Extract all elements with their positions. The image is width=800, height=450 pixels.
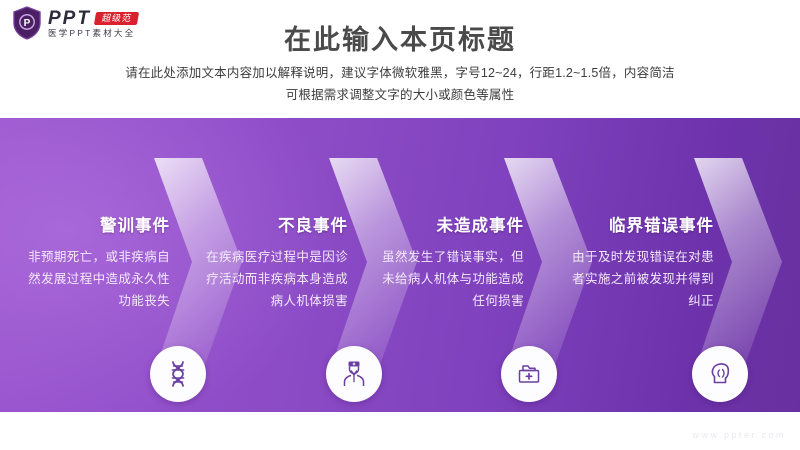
medical-folder-icon xyxy=(501,346,557,402)
event-card-2-title: 不良事件 xyxy=(196,212,348,236)
event-card-3-body: 虽然发生了错误事实，但未给病人机体与功能造成任何损害 xyxy=(372,246,524,312)
subtitle-line-1: 请在此处添加文本内容加以解释说明，建议字体微软雅黑，字号12~24，行距1.2~… xyxy=(0,62,800,84)
head-profile-icon xyxy=(692,346,748,402)
watermark: www.ppter.com xyxy=(692,430,786,440)
content-band: 警训事件 非预期死亡，或非疾病自然发展过程中造成永久性功能丧失 不良事件 在疾病… xyxy=(0,118,800,412)
event-card-1-title: 警训事件 xyxy=(18,212,170,236)
event-card-1-body: 非预期死亡，或非疾病自然发展过程中造成永久性功能丧失 xyxy=(18,246,170,312)
event-card-2-body: 在疾病医疗过程中是因诊疗活动而非疾病本身造成病人机体损害 xyxy=(196,246,348,312)
event-card-4-title: 临界错误事件 xyxy=(562,212,714,236)
event-card-4-body: 由于及时发现错误在对患者实施之前被发现并得到纠正 xyxy=(562,246,714,312)
event-card-3-title: 未造成事件 xyxy=(372,212,524,236)
slide-header: P PPT 超级范 医学PPT素材大全 在此输入本页标题 请在此处添加文本内容加… xyxy=(0,0,800,118)
subtitle-block: 请在此处添加文本内容加以解释说明，建议字体微软雅黑，字号12~24，行距1.2~… xyxy=(0,62,800,106)
page-title: 在此输入本页标题 xyxy=(0,18,800,57)
subtitle-line-2: 可根据需求调整文字的大小或颜色等属性 xyxy=(0,84,800,106)
